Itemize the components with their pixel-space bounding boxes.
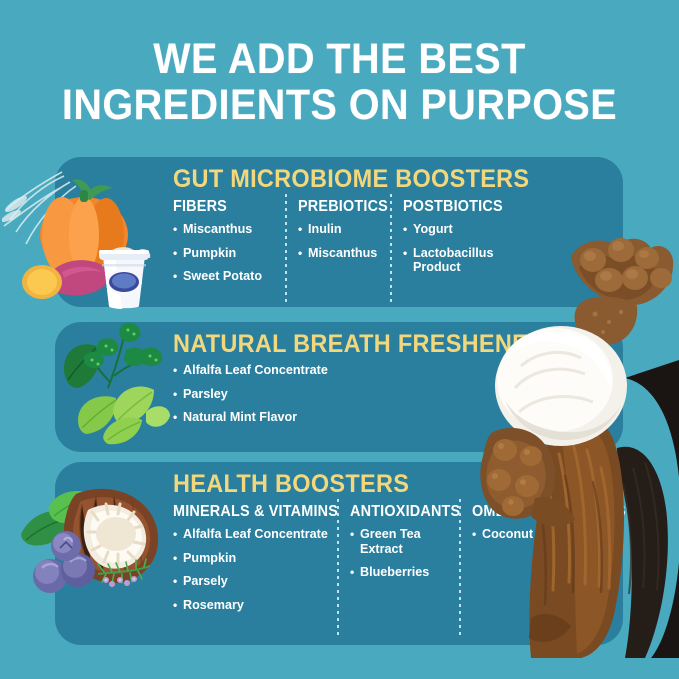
column-fibers: FIBERS Miscanthus Pumpkin Sweet Potato — [173, 198, 285, 293]
list-item: Parsley — [173, 387, 328, 402]
list-item: Parsely — [173, 574, 337, 589]
card-gut-microbiome-boosters: GUT MICROBIOME BOOSTERS FIBERS Miscanthu… — [55, 157, 623, 307]
list-item: Inulin — [298, 222, 390, 237]
page-title: WE ADD THE BEST INGREDIENTS ON PURPOSE — [0, 36, 679, 128]
infographic-poster: WE ADD THE BEST INGREDIENTS ON PURPOSE G… — [0, 0, 679, 679]
list-item: Pumpkin — [173, 551, 337, 566]
column-title: MINERALS & VITAMINS — [173, 503, 326, 520]
list-item: Lactobacillus Product — [403, 246, 510, 275]
card-heading: HEALTH BOOSTERS — [173, 471, 596, 498]
column-minerals-and-vitamins: MINERALS & VITAMINS Alfalfa Leaf Concent… — [173, 503, 337, 621]
list-item: Yogurt — [403, 222, 510, 237]
list-item: Rosemary — [173, 598, 337, 613]
ingredient-list: Alfalfa Leaf Concentrate Parsley Natural… — [173, 363, 328, 425]
column-title: POSTBIOTICS — [403, 198, 503, 215]
column-breath-fresheners: Alfalfa Leaf Concentrate Parsley Natural… — [173, 363, 328, 434]
list-item: Pumpkin — [173, 246, 285, 261]
column-title: ANTIOXIDANTS — [350, 503, 451, 520]
column-postbiotics: POSTBIOTICS Yogurt Lactobacillus Product — [390, 198, 510, 284]
card-columns: MINERALS & VITAMINS Alfalfa Leaf Concent… — [173, 503, 623, 621]
card-natural-breath-fresheners: NATURAL BREATH FRESHENERS Alfalfa Leaf C… — [55, 322, 623, 452]
list-item: Sweet Potato — [173, 269, 285, 284]
card-heading: NATURAL BREATH FRESHENERS — [173, 331, 596, 358]
page-title-line-2: INGREDIENTS ON PURPOSE — [27, 82, 652, 128]
card-columns: Alfalfa Leaf Concentrate Parsley Natural… — [173, 363, 623, 434]
ingredient-list: Inulin Miscanthus — [298, 222, 390, 260]
list-item: Green Tea Extract — [350, 527, 459, 556]
card-health-boosters: HEALTH BOOSTERS MINERALS & VITAMINS Alfa… — [55, 462, 623, 645]
card-heading: GUT MICROBIOME BOOSTERS — [173, 166, 596, 193]
column-omega-fatty-acids: OMEGA FATTY ACIDS Coconut Oil — [459, 503, 637, 551]
page-title-line-1: WE ADD THE BEST — [27, 36, 652, 82]
column-title: OMEGA FATTY ACIDS — [472, 503, 626, 520]
list-item: Miscanthus — [173, 222, 285, 237]
list-item: Alfalfa Leaf Concentrate — [173, 363, 328, 378]
column-title: FIBERS — [173, 198, 277, 215]
column-title: PREBIOTICS — [298, 198, 384, 215]
list-item: Blueberries — [350, 565, 459, 580]
list-item: Alfalfa Leaf Concentrate — [173, 527, 337, 542]
ingredient-list: Miscanthus Pumpkin Sweet Potato — [173, 222, 285, 284]
list-item: Miscanthus — [298, 246, 390, 261]
column-prebiotics: PREBIOTICS Inulin Miscanthus — [285, 198, 390, 269]
ingredient-list: Alfalfa Leaf Concentrate Pumpkin Parsely… — [173, 527, 337, 612]
ingredient-list: Yogurt Lactobacillus Product — [403, 222, 510, 275]
ingredient-list: Green Tea Extract Blueberries — [350, 527, 459, 580]
card-columns: FIBERS Miscanthus Pumpkin Sweet Potato P… — [173, 198, 623, 293]
list-item: Coconut Oil — [472, 527, 637, 542]
list-item: Natural Mint Flavor — [173, 410, 328, 425]
column-antioxidants: ANTIOXIDANTS Green Tea Extract Blueberri… — [337, 503, 459, 589]
ingredient-list: Coconut Oil — [472, 527, 637, 542]
